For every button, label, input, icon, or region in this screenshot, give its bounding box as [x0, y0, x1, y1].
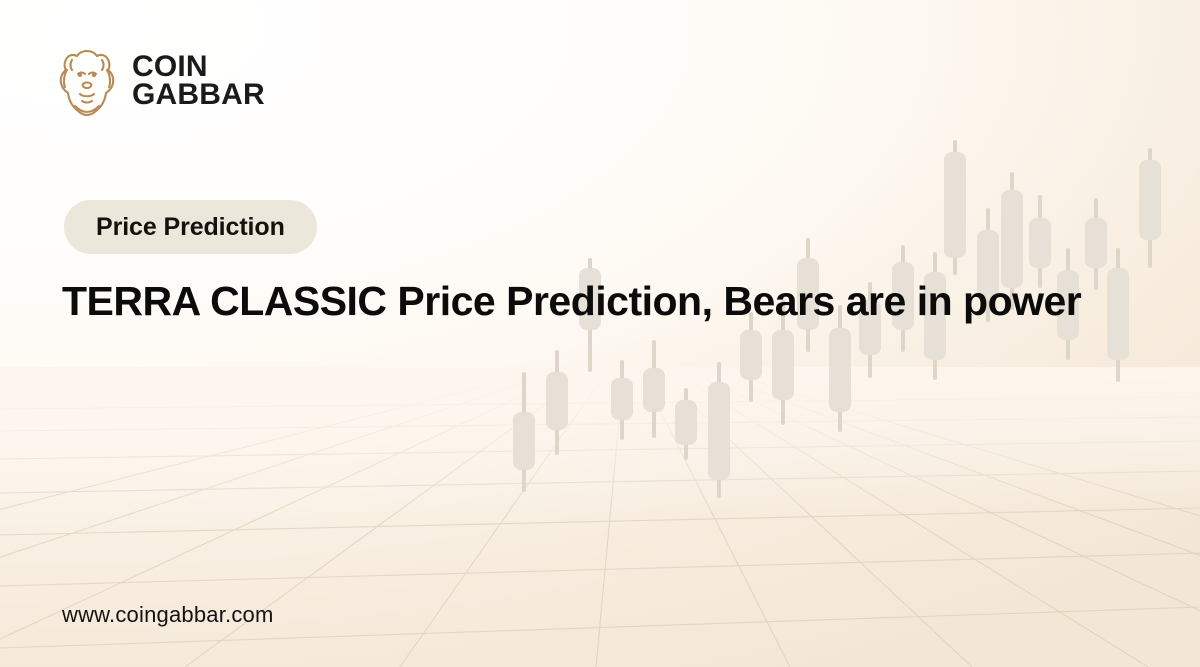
candlestick-body [611, 378, 633, 420]
candlestick [1139, 148, 1161, 268]
candlestick-wick [953, 140, 957, 275]
candlestick-body [829, 328, 851, 412]
brand-wordmark: COIN GABBAR [132, 53, 265, 109]
promo-banner: COIN GABBAR Price Prediction TERRA CLASS… [0, 0, 1200, 667]
floor-fade-overlay [0, 367, 1200, 517]
brand-line-1: COIN [132, 53, 265, 81]
candlestick-body [1139, 160, 1161, 240]
candlestick [675, 388, 697, 460]
candlestick-wick [1148, 148, 1152, 268]
candlestick-body [740, 330, 762, 380]
brand-logo: COIN GABBAR [56, 44, 265, 118]
candlestick [643, 340, 665, 438]
candlestick [708, 362, 730, 498]
candlestick-body [772, 330, 794, 400]
category-badge-label: Price Prediction [96, 213, 285, 242]
candlestick-body [546, 372, 568, 430]
candlestick-body [1029, 218, 1051, 268]
candlestick-body [643, 368, 665, 412]
candlestick-wick [717, 362, 721, 498]
candlestick-body [944, 152, 966, 258]
candlestick [546, 350, 568, 455]
candlestick [944, 140, 966, 275]
candlestick [513, 372, 535, 492]
page-title: TERRA CLASSIC Price Prediction, Bears ar… [62, 272, 1132, 330]
candlestick-wick [684, 388, 688, 460]
candlestick-wick [652, 340, 656, 438]
candlestick-body [675, 400, 697, 445]
candlestick [611, 360, 633, 440]
brand-line-2: GABBAR [132, 81, 265, 109]
candlestick-wick [555, 350, 559, 455]
candlestick-wick [522, 372, 526, 492]
website-url: www.coingabbar.com [62, 602, 273, 628]
candlestick-wick [620, 360, 624, 440]
lion-head-icon [56, 44, 118, 118]
candlestick-body [1085, 218, 1107, 268]
candlestick-body [513, 412, 535, 470]
candlestick-body [708, 382, 730, 480]
category-badge: Price Prediction [64, 200, 317, 254]
